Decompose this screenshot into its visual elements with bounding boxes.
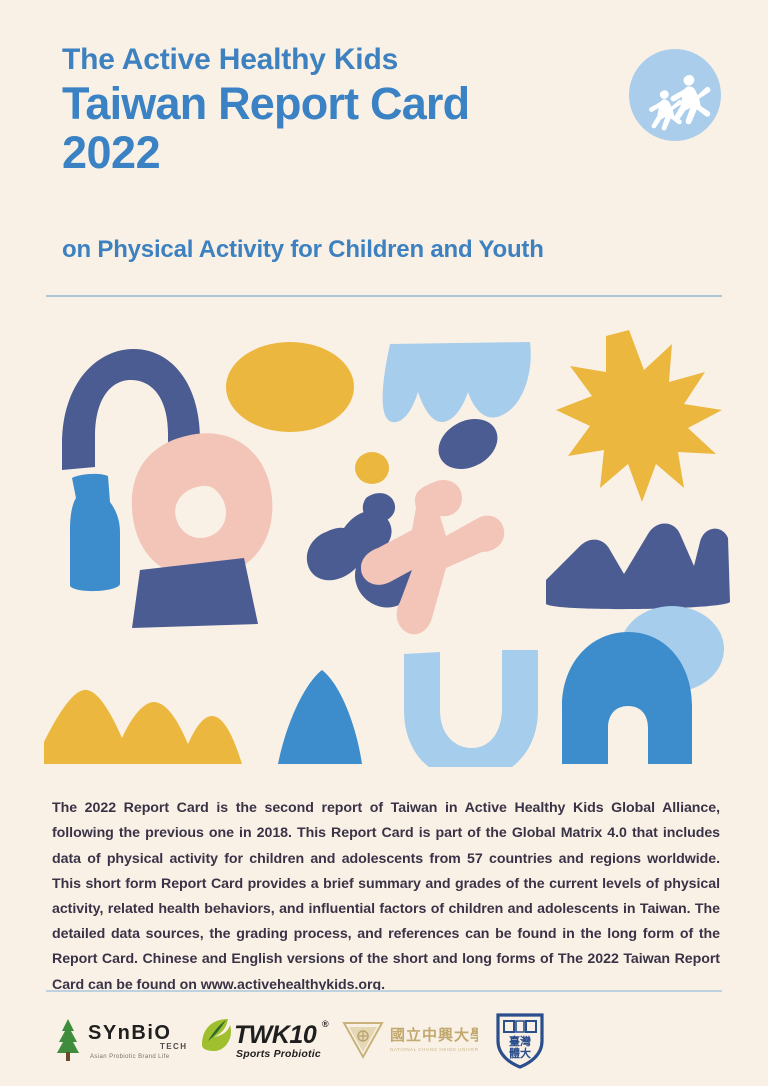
header-divider xyxy=(46,295,722,297)
gold-triangle-crest-icon xyxy=(344,1023,382,1057)
sponsor-tagline-synbiotech: Asian Probiotic Brand Life xyxy=(90,1054,170,1060)
kicker-text: The Active Healthy Kids xyxy=(62,44,622,76)
sponsor-name-twk10: TWK10 xyxy=(234,1021,317,1049)
shape-yellow-ellipse xyxy=(226,342,354,432)
title-block: The Active Healthy Kids Taiwan Report Ca… xyxy=(62,44,622,178)
cover-artwork xyxy=(0,312,768,767)
shape-small-yellow-dot xyxy=(355,452,389,484)
subtitle-text: on Physical Activity for Children and Yo… xyxy=(62,236,544,264)
blue-shield-crest-icon: 臺灣 體大 xyxy=(498,1015,542,1067)
sponsor-sub-synbiotech: TECH xyxy=(160,1042,187,1051)
shape-light-blue-canopy xyxy=(383,342,531,422)
sponsor-name-ntus-2: 體大 xyxy=(509,1046,531,1060)
green-leaf-icon xyxy=(202,1019,231,1051)
active-healthy-kids-logo-icon xyxy=(628,48,722,142)
sponsor-logo-nchu: 國立中興大學 NATIONAL CHUNG HSING UNIVERSITY xyxy=(338,1008,478,1070)
sponsor-name-synbiotech: SYnBiO xyxy=(88,1022,171,1044)
sponsor-sub-twk10: Sports Probiotic xyxy=(236,1048,321,1060)
page-title: Taiwan Report Card xyxy=(62,80,622,129)
sponsor-name-ntus: 臺灣 xyxy=(509,1034,531,1048)
sponsor-footer: SYnBiO TECH Asian Probiotic Brand Life T… xyxy=(0,1000,768,1080)
sponsor-logo-twk10: TWK10 ® Sports Probiotic xyxy=(196,1008,336,1070)
header: The Active Healthy Kids Taiwan Report Ca… xyxy=(0,0,768,300)
green-tree-icon xyxy=(57,1019,79,1061)
report-card-cover: The Active Healthy Kids Taiwan Report Ca… xyxy=(0,0,768,1086)
intro-paragraph: The 2022 Report Card is the second repor… xyxy=(52,796,720,998)
sponsor-logo-synbiotech: SYnBiO TECH Asian Probiotic Brand Life xyxy=(52,1008,202,1070)
sponsor-name-nchu: 國立中興大學 xyxy=(390,1026,478,1044)
sponsor-logo-ntus: 臺灣 體大 xyxy=(480,1008,560,1070)
sponsor-sub-nchu: NATIONAL CHUNG HSING UNIVERSITY xyxy=(390,1047,478,1052)
year-text: 2022 xyxy=(62,128,622,178)
sponsor-registered-mark-twk10: ® xyxy=(322,1019,329,1029)
footer-divider xyxy=(46,990,722,992)
